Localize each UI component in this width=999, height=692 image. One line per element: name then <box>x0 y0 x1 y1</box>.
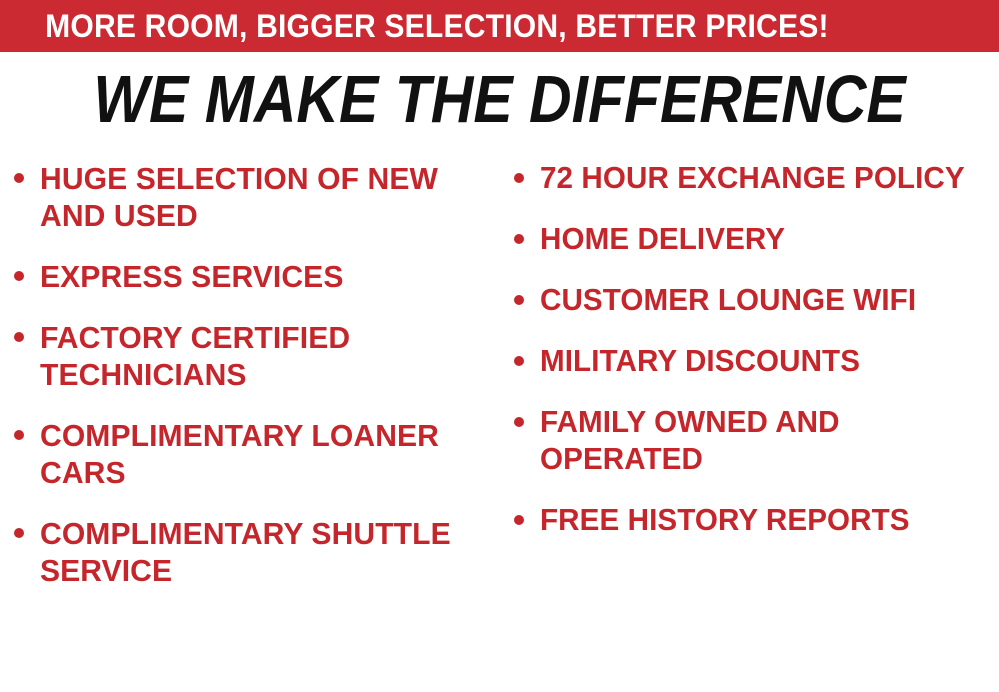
list-item: FAMILY OWNED AND OPERATED <box>514 404 999 478</box>
benefits-column-right: 72 HOUR EXCHANGE POLICY HOME DELIVERY CU… <box>514 160 999 563</box>
list-item: CUSTOMER LOUNGE WIFI <box>514 282 999 319</box>
list-item: FREE HISTORY REPORTS <box>514 502 999 539</box>
list-item-label: HOME DELIVERY <box>540 221 985 258</box>
list-item-label: HUGE SELECTION OF NEW AND USED <box>40 160 490 234</box>
promo-banner: MORE ROOM, BIGGER SELECTION, BETTER PRIC… <box>0 0 999 52</box>
advertisement-banner: MORE ROOM, BIGGER SELECTION, BETTER PRIC… <box>0 0 999 692</box>
list-item-label: CUSTOMER LOUNGE WIFI <box>540 282 985 319</box>
list-item-label: FREE HISTORY REPORTS <box>540 502 985 539</box>
list-item-label: EXPRESS SERVICES <box>40 258 490 295</box>
list-item-label: 72 HOUR EXCHANGE POLICY <box>540 160 985 197</box>
list-item-label: COMPLIMENTARY LOANER CARS <box>40 417 490 491</box>
promo-banner-text: MORE ROOM, BIGGER SELECTION, BETTER PRIC… <box>0 10 829 42</box>
bullet-dot-icon <box>14 173 24 183</box>
bullet-dot-icon <box>514 234 524 244</box>
bullet-dot-icon <box>14 528 24 538</box>
list-item: COMPLIMENTARY LOANER CARS <box>14 417 504 491</box>
bullet-dot-icon <box>14 430 24 440</box>
bullet-dot-icon <box>514 173 524 183</box>
bullet-dot-icon <box>514 295 524 305</box>
list-item: HOME DELIVERY <box>514 221 999 258</box>
bullet-dot-icon <box>14 271 24 281</box>
list-item-label: FACTORY CERTIFIED TECHNICIANS <box>40 319 490 393</box>
headline-text: WE MAKE THE DIFFERENCE <box>93 66 905 133</box>
benefits-columns: HUGE SELECTION OF NEW AND USED EXPRESS S… <box>0 160 999 692</box>
list-item-label: MILITARY DISCOUNTS <box>540 343 985 380</box>
bullet-dot-icon <box>514 515 524 525</box>
benefits-column-left: HUGE SELECTION OF NEW AND USED EXPRESS S… <box>14 160 504 613</box>
bullet-dot-icon <box>514 356 524 366</box>
bullet-dot-icon <box>514 417 524 427</box>
list-item-label: FAMILY OWNED AND OPERATED <box>540 404 985 478</box>
list-item: HUGE SELECTION OF NEW AND USED <box>14 160 504 234</box>
list-item: 72 HOUR EXCHANGE POLICY <box>514 160 999 197</box>
list-item: FACTORY CERTIFIED TECHNICIANS <box>14 319 504 393</box>
bullet-dot-icon <box>14 332 24 342</box>
list-item-label: COMPLIMENTARY SHUTTLE SERVICE <box>40 515 490 589</box>
list-item: MILITARY DISCOUNTS <box>514 343 999 380</box>
list-item: EXPRESS SERVICES <box>14 258 504 295</box>
list-item: COMPLIMENTARY SHUTTLE SERVICE <box>14 515 504 589</box>
headline: WE MAKE THE DIFFERENCE <box>0 66 999 133</box>
